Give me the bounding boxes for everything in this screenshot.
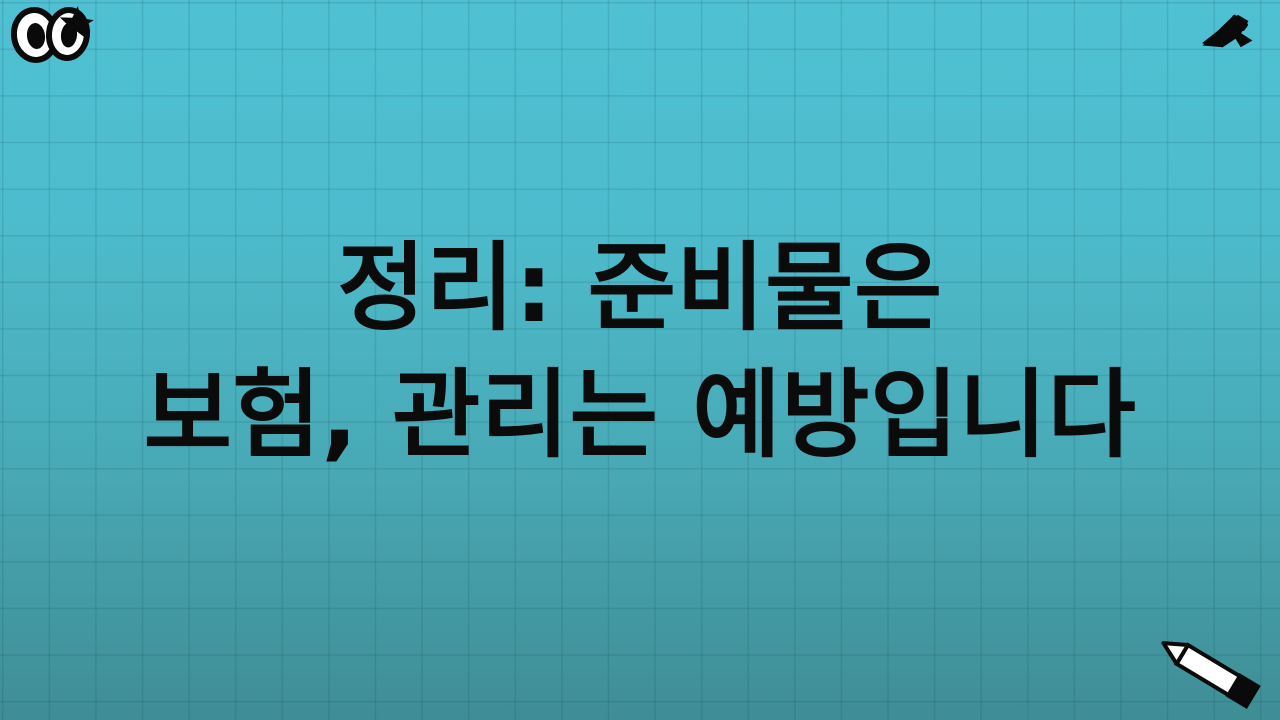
eyes-logo xyxy=(8,4,100,66)
star-icon xyxy=(58,5,94,40)
eye-right-icon xyxy=(47,8,90,60)
cursor-arrow-icon xyxy=(1200,8,1258,60)
slide-canvas: 정리: 준비물은 보험, 관리는 예방입니다 xyxy=(0,0,1280,720)
pencil-icon xyxy=(1150,636,1268,712)
eye-left-icon xyxy=(11,8,59,63)
page-title: 정리: 준비물은 보험, 관리는 예방입니다 xyxy=(0,225,1280,478)
